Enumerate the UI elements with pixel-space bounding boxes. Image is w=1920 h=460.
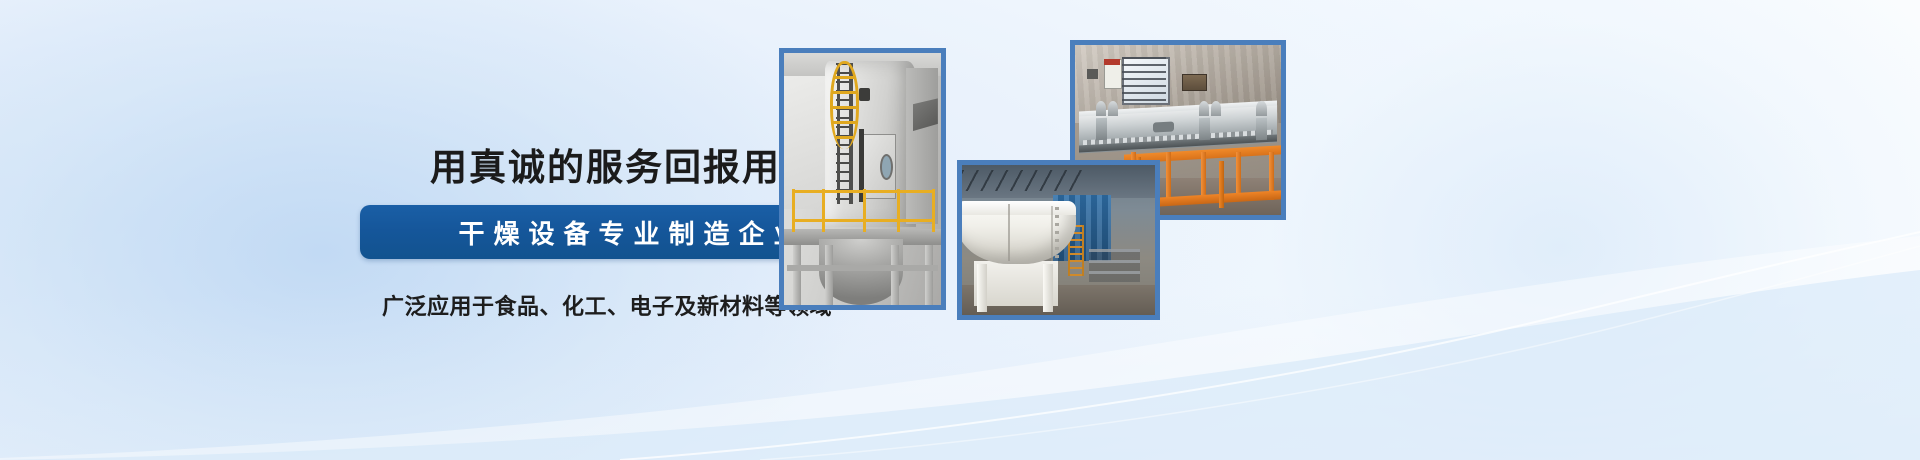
photo-collage	[0, 0, 1920, 460]
photo-image-area	[784, 53, 941, 305]
ribbon-mixer-photo	[957, 160, 1160, 320]
spray-dryer-tower-photo	[779, 48, 946, 310]
hero-banner: 用真诚的服务回报用户 干燥设备专业制造企业 广泛应用于食品、化工、电子及新材料等…	[0, 0, 1920, 460]
photo-image-area	[962, 165, 1155, 315]
